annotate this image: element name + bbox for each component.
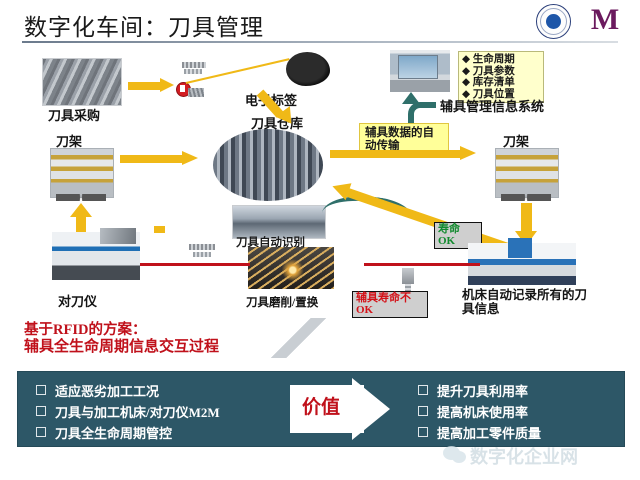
left-bullet-0: 适应恶劣加工工况	[36, 381, 159, 400]
arrow-teal-to-mis	[400, 92, 434, 122]
value-label: 价值	[302, 392, 340, 419]
slide-canvas: 数字化车间：刀具管理 M 刀具采购 电子标签 刀具仓库 刀架	[0, 0, 640, 480]
conclusion-heading-line1: 基于RFID的方案：	[24, 322, 219, 339]
tool-warehouse-photo	[213, 129, 323, 201]
university-seal-logo	[536, 4, 571, 39]
decorative-fold	[258, 318, 328, 358]
left-bullet-1: 刀具与加工机床/对刀仪M2M	[36, 402, 220, 421]
tool-small-icon-mid	[185, 242, 219, 272]
status-badge-life-not-ok: 辅具寿命不 OK	[352, 291, 428, 318]
arrow-up-to-left-rack	[70, 203, 92, 235]
cnc-machine-head	[508, 238, 532, 258]
arrow-tag-to-warehouse	[258, 86, 304, 128]
bullet-square-icon	[36, 385, 46, 395]
watermark-text: 数字化企业网	[470, 443, 578, 469]
arrow-presetter-up	[152, 222, 166, 236]
electronic-tag-photo	[286, 52, 330, 86]
tool-purchase-label: 刀具采购	[48, 105, 100, 124]
line-tag-to-electronic-tag	[186, 62, 292, 86]
seal-ring	[540, 8, 567, 35]
arrow-cnc-to-grinding-red	[356, 260, 480, 268]
diamond-bullet-icon: ◆	[462, 54, 470, 65]
tool-rack-left-photo	[50, 148, 114, 198]
right-bullet-0: 提升刀具利用率	[418, 381, 528, 400]
left-bullet-2: 刀具全生命周期管控	[36, 423, 172, 442]
conclusion-heading-line2: 辅具全生命周期信息交互过程	[24, 339, 219, 356]
arrow-cnc-to-warehouse	[324, 180, 514, 242]
bullet-square-icon	[418, 406, 428, 416]
title-divider	[22, 41, 618, 43]
diamond-bullet-icon: ◆	[462, 77, 470, 88]
bullet-square-icon	[418, 385, 428, 395]
tool-purchase-photo	[42, 58, 122, 106]
arrow-data-to-right-rack	[330, 147, 482, 161]
tool-grinding-label: 刀具磨削/置换	[246, 294, 318, 310]
seal-core	[546, 14, 561, 29]
diamond-bullet-icon: ◆	[462, 66, 470, 77]
arrow-rack-to-warehouse	[120, 152, 206, 166]
conclusion-heading: 基于RFID的方案： 辅具全生命周期信息交互过程	[24, 322, 219, 356]
wechat-icon	[443, 446, 469, 464]
bullet-square-icon	[36, 406, 46, 416]
tool-rack-left-wheels	[56, 194, 106, 201]
tool-grinding-photo	[248, 247, 334, 289]
page-title: 数字化车间：刀具管理	[24, 8, 264, 42]
tool-presetter-arm	[100, 228, 136, 244]
bullet-square-icon	[36, 427, 46, 437]
right-bullet-1: 提高机床使用率	[418, 402, 528, 421]
mis-item-0: ◆ 生命周期	[462, 54, 540, 66]
bullet-square-icon	[418, 427, 428, 437]
cnc-machine-label: 机床自动记录所有的刀具信息	[462, 288, 590, 316]
mis-computer-screen	[398, 55, 438, 79]
right-bullet-2: 提高加工零件质量	[418, 423, 541, 442]
m-logo: M	[588, 4, 622, 36]
mis-system-label: 辅具管理信息系统	[440, 96, 544, 115]
mis-item-2: ◆ 库存清单	[462, 77, 540, 89]
tool-presetter-label: 对刀仪	[58, 291, 97, 310]
mis-item-1: ◆ 刀具参数	[462, 66, 540, 78]
